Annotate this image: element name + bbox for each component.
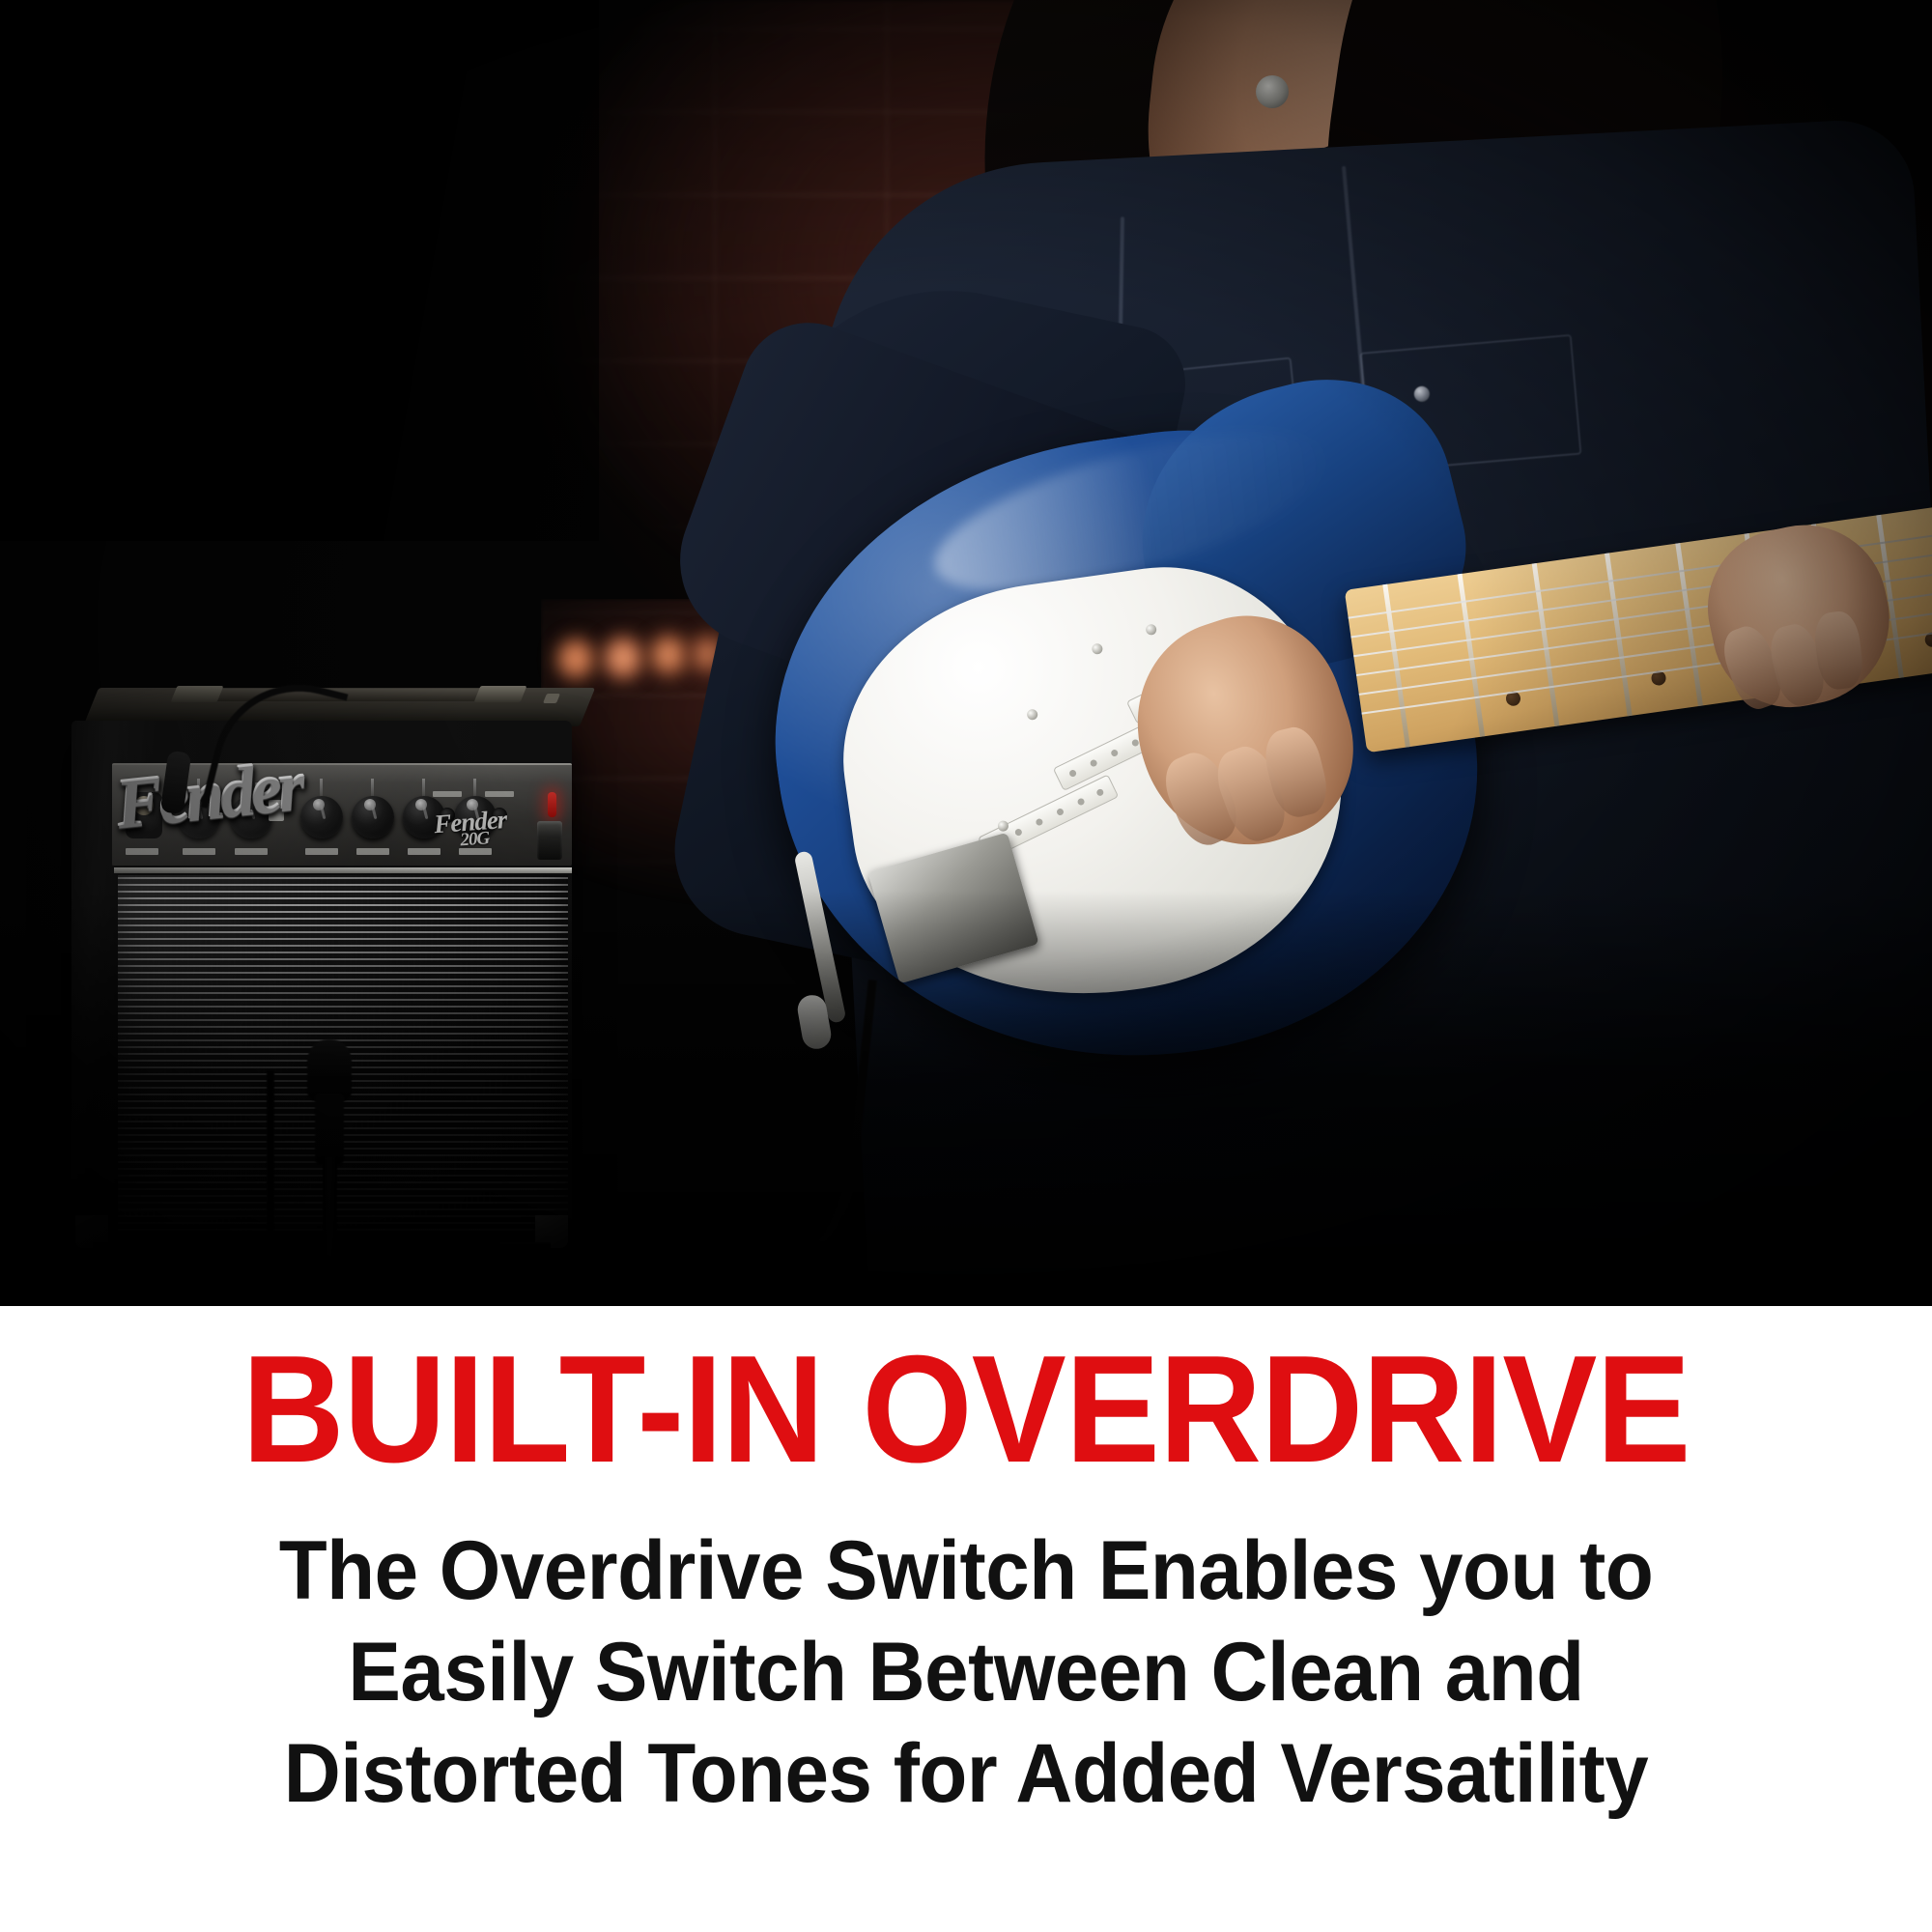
bokeh-light <box>556 638 595 680</box>
subheadline: The Overdrive Switch Enables you to Easi… <box>48 1520 1884 1825</box>
promo-card: Fender 20G Fender <box>0 0 1932 1932</box>
grille-trim <box>114 867 572 873</box>
subheadline-line-2: Easily Switch Between Clean and <box>48 1622 1884 1723</box>
guitar-output-jack <box>1256 75 1289 108</box>
caption-block: BUILT-IN OVERDRIVE The Overdrive Switch … <box>0 1306 1932 1932</box>
headline: BUILT-IN OVERDRIVE <box>68 1333 1864 1486</box>
product-photo: Fender 20G Fender <box>0 0 1932 1306</box>
pickguard-screw <box>1026 709 1037 721</box>
dark-backdrop-left <box>0 0 599 541</box>
subheadline-line-1: The Overdrive Switch Enables you to <box>48 1520 1884 1622</box>
subheadline-line-3: Distorted Tones for Added Versatility <box>48 1723 1884 1825</box>
handle-bracket <box>171 686 224 702</box>
handle-bracket <box>474 686 527 702</box>
floor-shadow <box>0 891 1932 1306</box>
pickguard-screw <box>1145 624 1156 636</box>
pickguard-screw <box>1092 643 1103 655</box>
